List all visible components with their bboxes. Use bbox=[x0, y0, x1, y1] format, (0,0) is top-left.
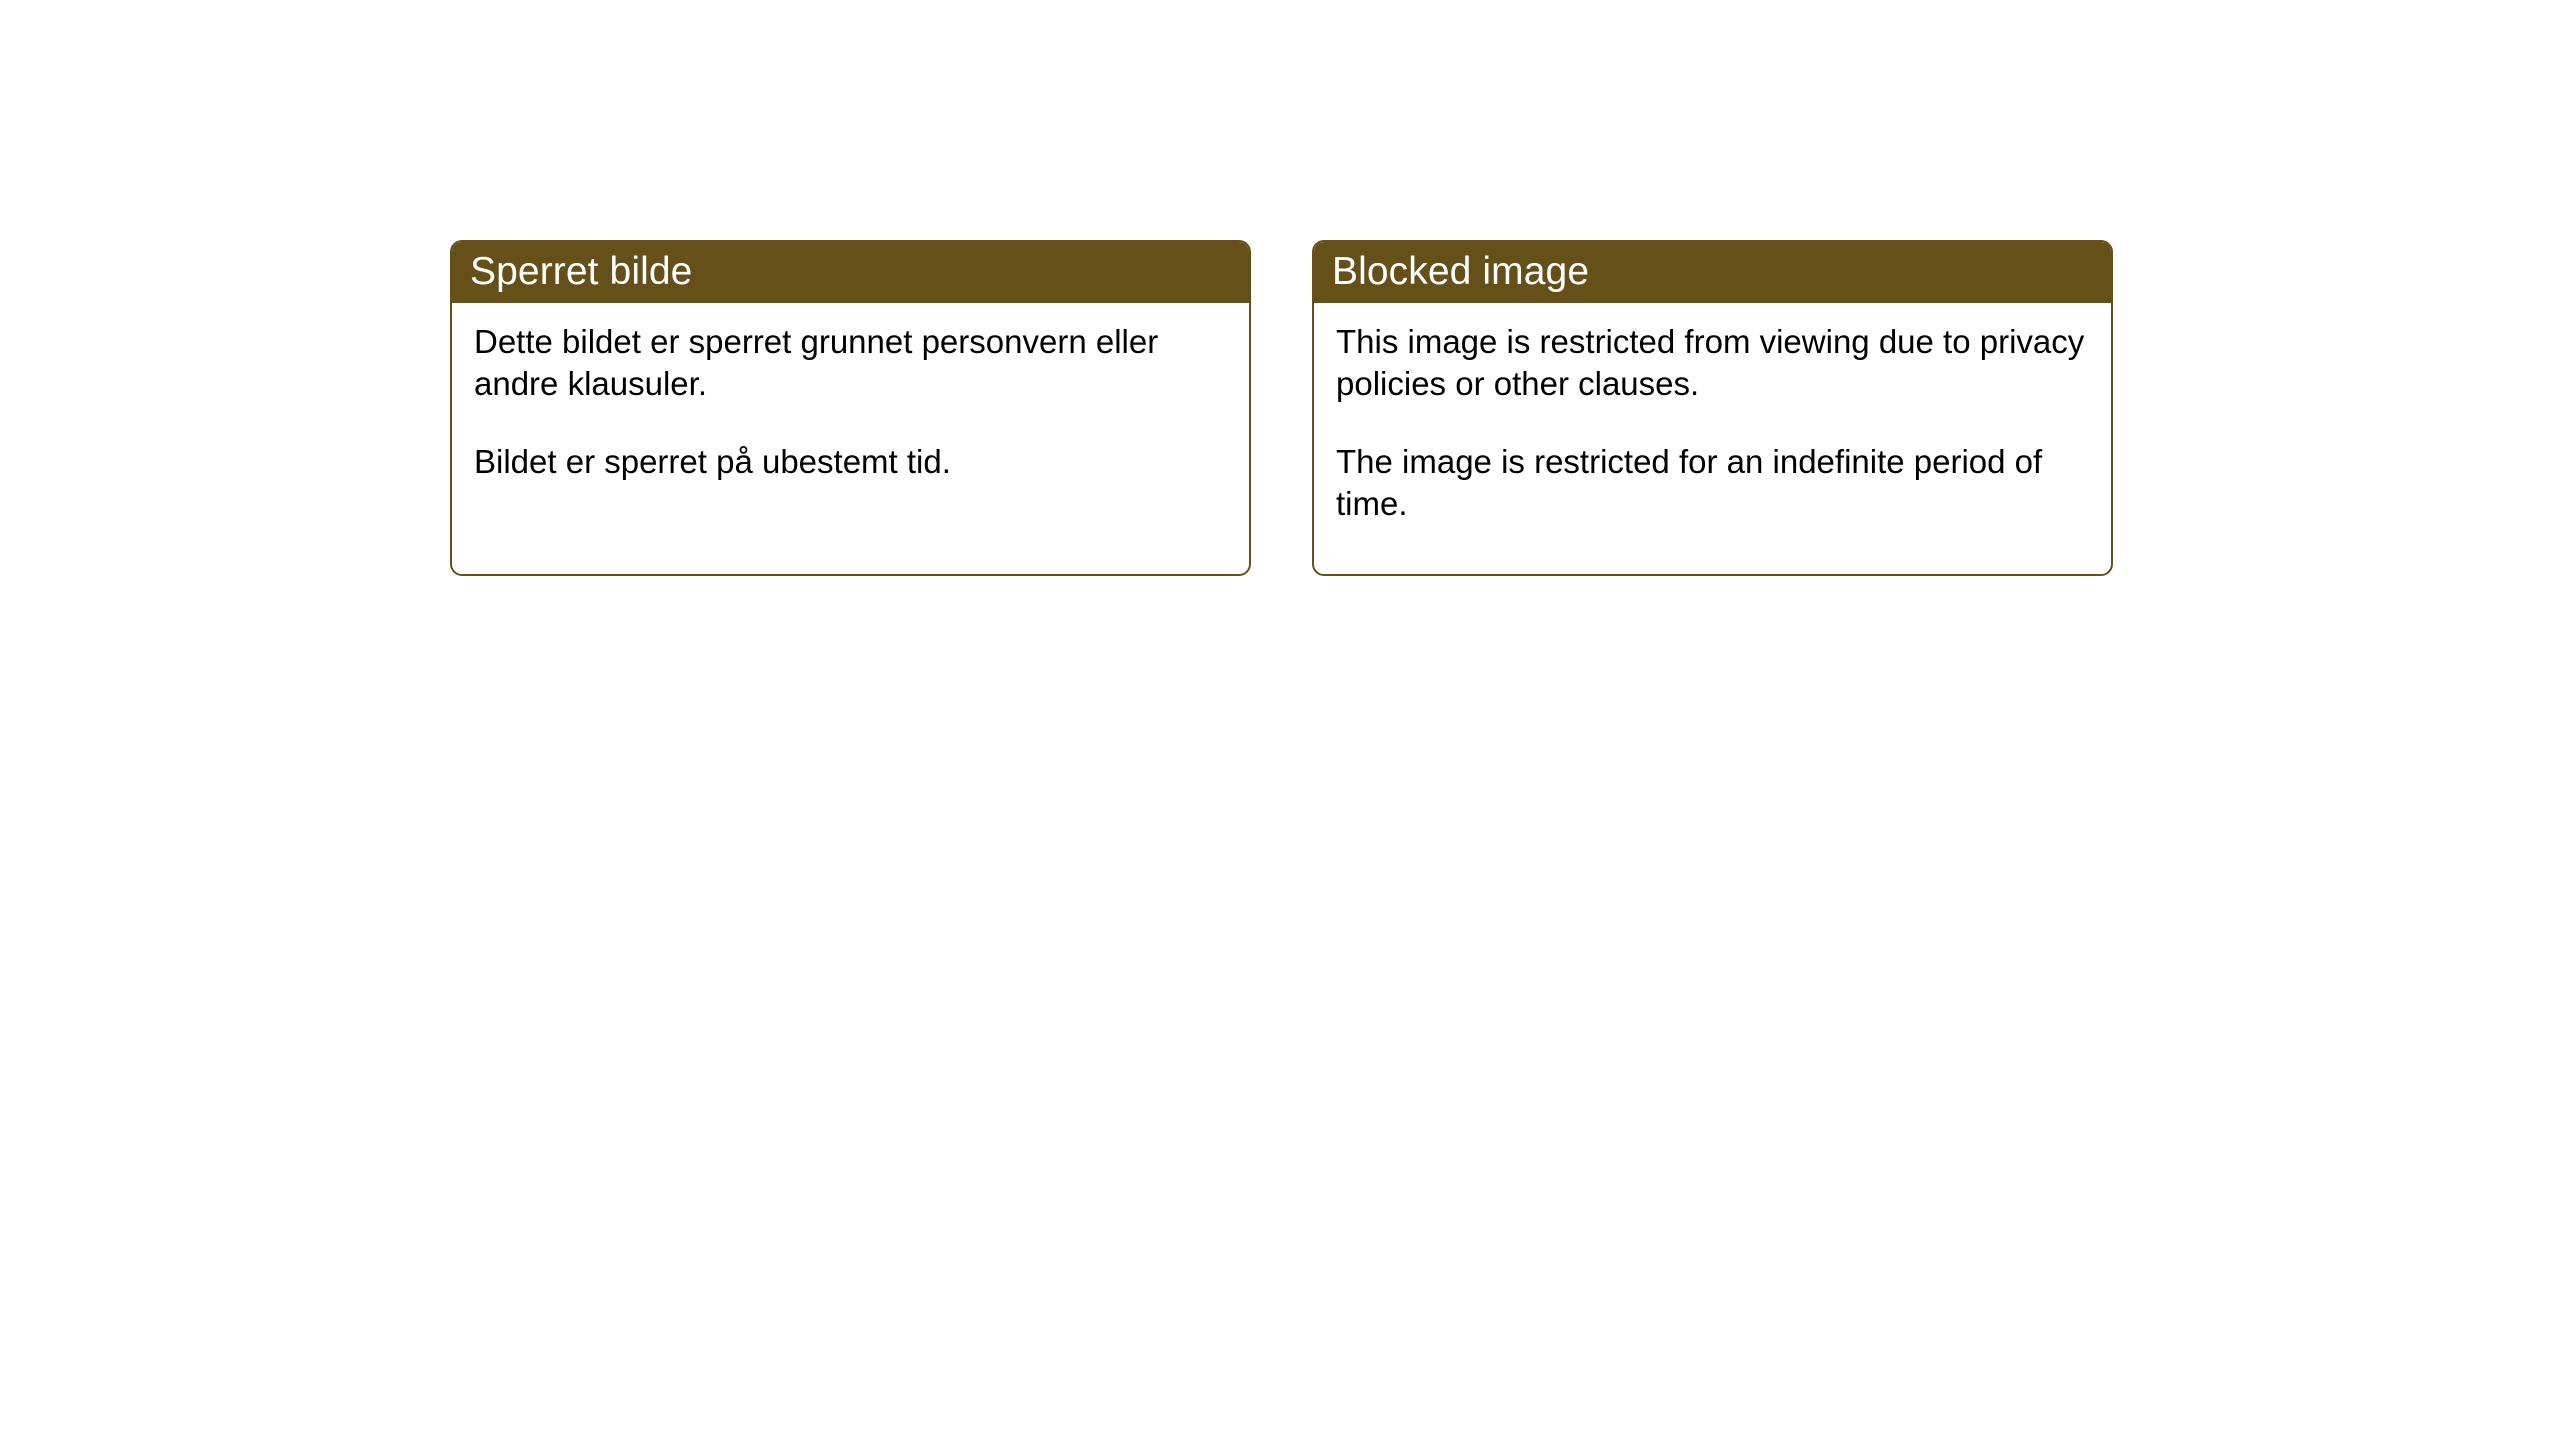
blocked-image-card-norwegian: Sperret bilde Dette bildet er sperret gr… bbox=[450, 240, 1251, 576]
page-canvas: Sperret bilde Dette bildet er sperret gr… bbox=[0, 0, 2560, 1440]
card-body-english: This image is restricted from viewing du… bbox=[1314, 303, 2111, 574]
card-paragraph-english-1: This image is restricted from viewing du… bbox=[1336, 321, 2089, 404]
card-header-english: Blocked image bbox=[1312, 240, 2113, 303]
card-paragraph-english-2: The image is restricted for an indefinit… bbox=[1336, 441, 2089, 524]
card-header-norwegian: Sperret bilde bbox=[450, 240, 1251, 303]
notice-card-group: Sperret bilde Dette bildet er sperret gr… bbox=[450, 240, 2113, 576]
blocked-image-card-english: Blocked image This image is restricted f… bbox=[1312, 240, 2113, 576]
card-title-english: Blocked image bbox=[1332, 252, 1589, 291]
card-paragraph-norwegian-2: Bildet er sperret på ubestemt tid. bbox=[474, 441, 1227, 483]
card-title-norwegian: Sperret bilde bbox=[470, 252, 692, 291]
card-paragraph-norwegian-1: Dette bildet er sperret grunnet personve… bbox=[474, 321, 1227, 404]
card-body-norwegian: Dette bildet er sperret grunnet personve… bbox=[452, 303, 1249, 574]
